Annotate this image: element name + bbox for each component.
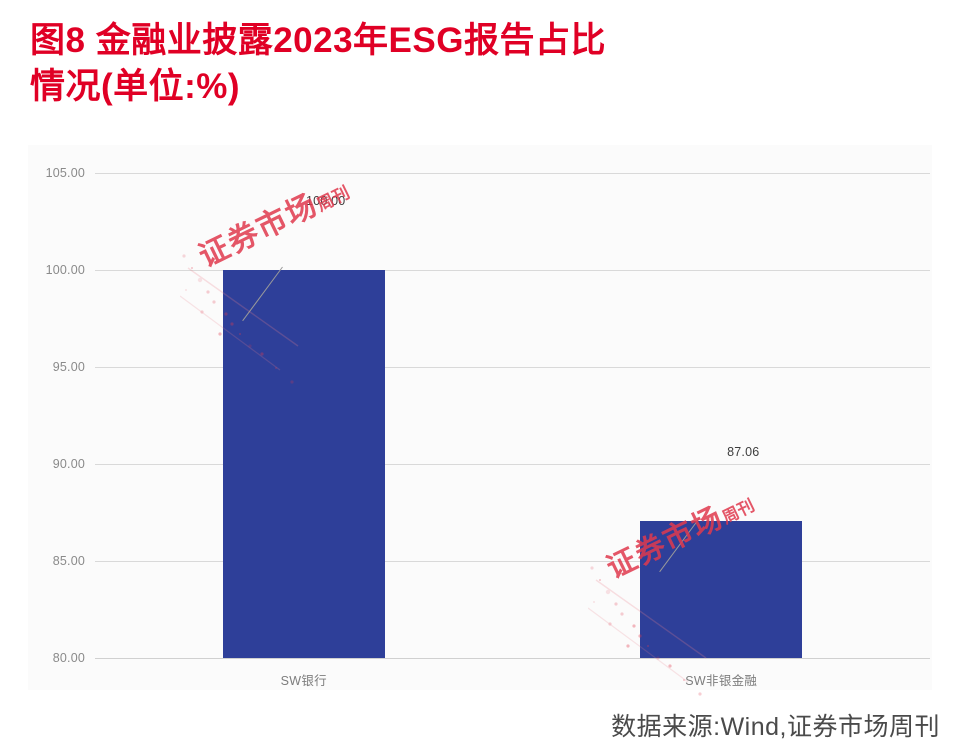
y-axis-tick-label: 90.00: [15, 457, 85, 471]
gridline: [95, 270, 930, 271]
y-axis-tick-label: 85.00: [15, 554, 85, 568]
gridline: [95, 658, 930, 659]
y-axis-tick-label: 100.00: [15, 263, 85, 277]
y-axis: 105.00100.0095.0090.0085.0080.00: [10, 173, 85, 658]
bar-2[interactable]: [640, 521, 802, 658]
plot-area: 100.00SW银行87.06SW非银金融: [95, 173, 930, 658]
source-note: 数据来源:Wind,证券市场周刊: [611, 707, 940, 743]
page-title: 图8 金融业披露2023年ESG报告占比 情况(单位:%): [30, 18, 945, 109]
gridline: [95, 464, 930, 465]
gridline: [95, 173, 930, 174]
x-axis-tick-label-2: SW非银金融: [685, 670, 757, 689]
y-axis-tick-label: 80.00: [15, 651, 85, 665]
bar-value-label-2: 87.06: [727, 445, 759, 459]
bar-1[interactable]: [223, 270, 385, 658]
gridline: [95, 561, 930, 562]
gridline: [95, 367, 930, 368]
x-axis-tick-label-1: SW银行: [281, 670, 327, 689]
y-axis-tick-label: 105.00: [15, 166, 85, 180]
y-axis-tick-label: 95.00: [15, 360, 85, 374]
bar-value-label-1: 100.00: [306, 194, 345, 208]
